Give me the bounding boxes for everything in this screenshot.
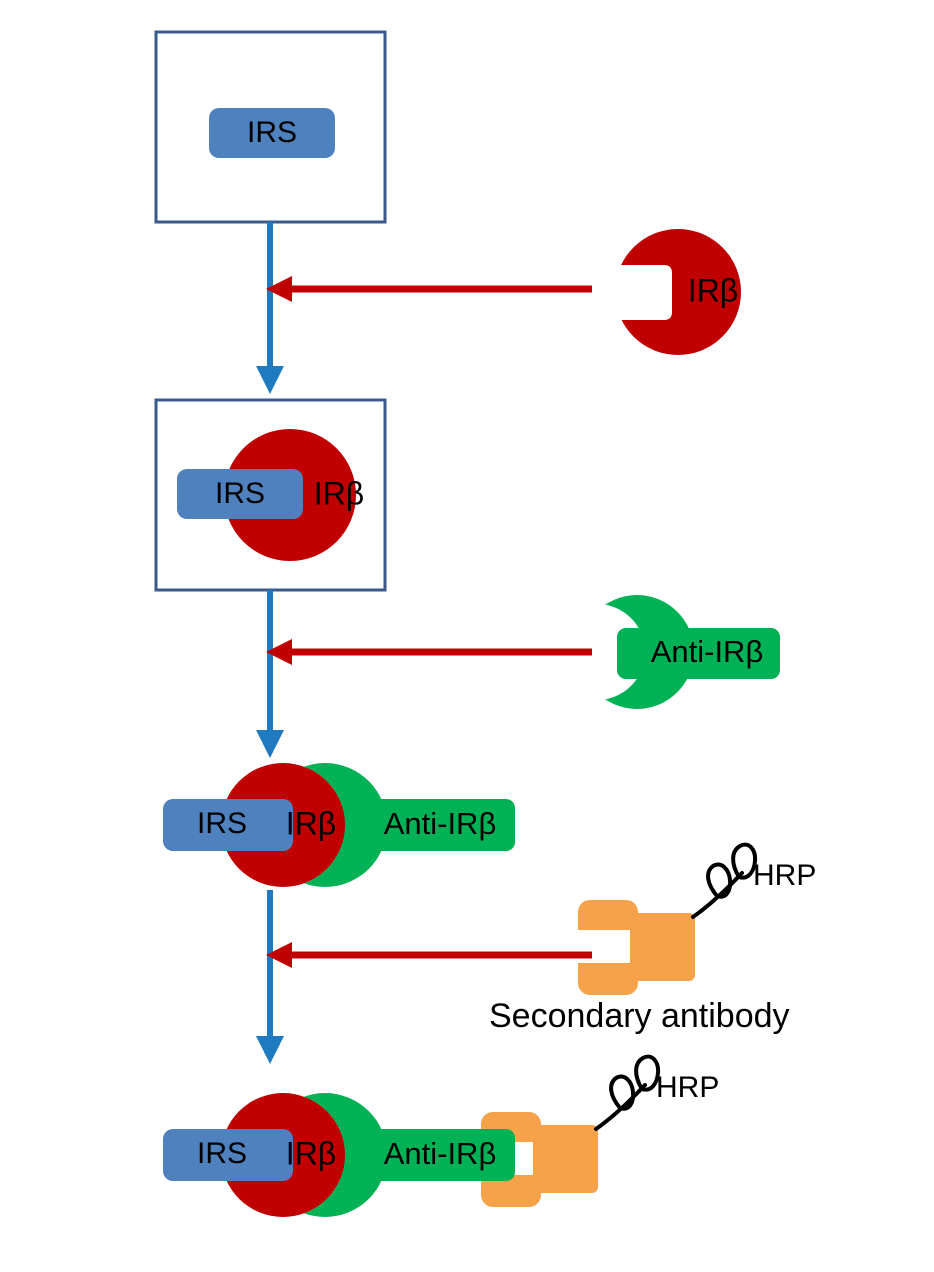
- irb-label-3: IRβ: [286, 805, 336, 841]
- step-2-group: IRS IRβ: [156, 400, 385, 590]
- reagent-anti-irb-group: Anti-IRβ: [266, 595, 780, 709]
- irs-label-3: IRS: [197, 807, 247, 840]
- secondary-antibody-body-4: [533, 1125, 598, 1193]
- hrp-label-reagent: HRP: [753, 859, 816, 892]
- reagent-irb-group: IRβ: [266, 229, 741, 355]
- reagent-arrow-secondary: [266, 942, 592, 968]
- hrp-label-4: HRP: [656, 1071, 719, 1104]
- flow-arrow-3: [256, 890, 284, 1064]
- step-4-group: IRS IRβ Anti-IRβ HRP: [163, 1057, 719, 1217]
- irs-label-4: IRS: [197, 1137, 247, 1170]
- elisa-diagram: IRS IRβ IRS IRβ: [0, 0, 934, 1272]
- anti-irb-label-3: Anti-IRβ: [384, 806, 497, 841]
- diagram-canvas: IRS IRβ IRS IRβ: [0, 0, 934, 1272]
- reagent-arrow-anti-irb: [266, 639, 592, 665]
- irs-label-1: IRS: [247, 116, 297, 149]
- hrp-squiggle-reagent: [693, 845, 755, 917]
- irs-label-2: IRS: [215, 477, 265, 510]
- flow-arrow-2: [256, 590, 284, 758]
- hrp-squiggle-4: [596, 1057, 658, 1129]
- secondary-antibody-caption: Secondary antibody: [489, 997, 790, 1035]
- flow-arrow-1: [256, 222, 284, 394]
- irb-label-4: IRβ: [286, 1135, 336, 1171]
- irb-label-2: IRβ: [314, 475, 364, 511]
- secondary-antibody-arm-reagent: [578, 900, 638, 995]
- anti-irb-label-reagent: Anti-IRβ: [651, 634, 764, 669]
- step-3-group: IRS IRβ Anti-IRβ: [163, 763, 515, 887]
- step-1-group: IRS: [156, 32, 385, 222]
- secondary-antibody-body-reagent: [630, 913, 695, 981]
- irb-label-reagent: IRβ: [688, 272, 738, 308]
- anti-irb-label-4: Anti-IRβ: [384, 1136, 497, 1171]
- reagent-arrow-irb: [266, 276, 592, 302]
